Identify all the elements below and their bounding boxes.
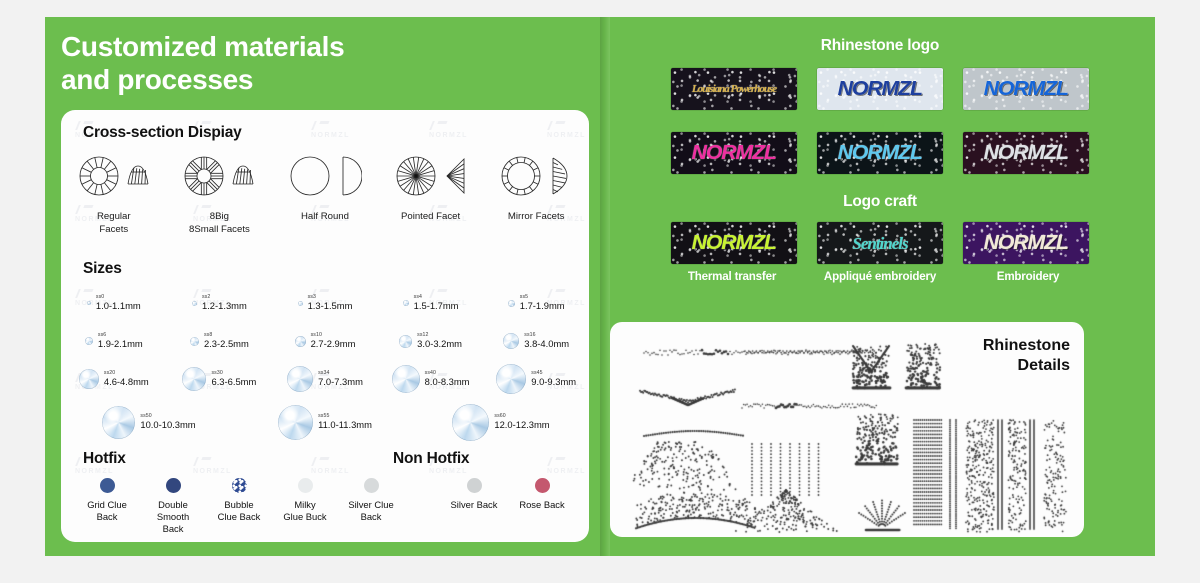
rhinestone-icon bbox=[496, 364, 526, 394]
backing-label-line-2: Back bbox=[87, 511, 127, 523]
materials-card: NORMZLNORMZLNORMZLNORMZLNORMZLNORMZLNORM… bbox=[61, 110, 589, 542]
cross-section-label-line-1: Mirror Facets bbox=[508, 211, 565, 224]
size-mm: 7.0-7.3mm bbox=[318, 377, 363, 387]
size-item: ss51.7-1.9mm bbox=[483, 295, 589, 310]
half-round-icon bbox=[288, 148, 362, 204]
rhinestone-icon bbox=[452, 404, 489, 441]
size-mm: 3.0-3.2mm bbox=[417, 339, 462, 349]
rhinestone-logo-tile: NORMZL bbox=[671, 222, 797, 264]
details-title-line-2: Details bbox=[983, 356, 1070, 376]
size-mm: 11.0-11.3mm bbox=[318, 420, 372, 430]
size-text: ss31.3-1.5mm bbox=[308, 295, 353, 310]
non-hotfix-group: Silver BackRose BackCold Back bbox=[445, 478, 589, 536]
rhinestone-icon bbox=[190, 337, 199, 346]
non-hotfix-title: Non Hotfix bbox=[393, 450, 469, 468]
rhinestone-logo-tile: NORMZL bbox=[963, 132, 1089, 174]
backing-label: Rose Back bbox=[519, 499, 564, 511]
backing-row: Grid ClueBackDouble SmoothBackBubbleClue… bbox=[61, 478, 589, 536]
cross-section-item: RegularFacets bbox=[61, 148, 167, 237]
backing-label: Grid ClueBack bbox=[87, 499, 127, 523]
size-item: ss408.0-8.3mm bbox=[378, 365, 484, 393]
right-page: Rhinestone logo Louisiana PowerhouseNORM… bbox=[605, 17, 1155, 556]
headline-line-1: Customized materials bbox=[61, 30, 344, 63]
size-mm: 1.7-1.9mm bbox=[520, 301, 565, 311]
size-item: ss01.0-1.1mm bbox=[61, 295, 167, 310]
backing-label-line-1: Milky bbox=[283, 499, 326, 511]
cross-section-label-line-1: Half Round bbox=[301, 211, 349, 224]
logo-wordmark: NORMZL bbox=[838, 78, 922, 101]
backing-label: Double SmoothBack bbox=[141, 499, 205, 536]
rhinestone-icon bbox=[85, 337, 93, 345]
size-text: ss306.3-6.5mm bbox=[211, 371, 256, 386]
backing-label: Silver Back bbox=[451, 499, 498, 511]
logo-wordmark: Louisiana Powerhouse bbox=[692, 84, 776, 95]
cross-section-label-line-1: Regular bbox=[97, 211, 131, 224]
mirror-facets-icon bbox=[499, 148, 573, 204]
cross-section-item: Mirror Facets bbox=[483, 148, 589, 237]
cross-section-label: Pointed Facet bbox=[401, 211, 460, 224]
rhinestone-icon bbox=[503, 333, 519, 349]
backing-item: Grid ClueBack bbox=[75, 478, 139, 536]
size-text: ss82.3-2.5mm bbox=[204, 333, 249, 348]
backing-item: BubbleClue Back bbox=[207, 478, 271, 536]
hotfix-group: Grid ClueBackDouble SmoothBackBubbleClue… bbox=[75, 478, 403, 536]
watermark-mark: NORMZL bbox=[75, 468, 114, 475]
size-text: ss5511.0-11.3mm bbox=[318, 414, 372, 429]
craft-label: Thermal transfer bbox=[662, 270, 802, 283]
left-page: Customized materials and processes NORMZ… bbox=[45, 17, 605, 556]
cross-section-row: RegularFacets8Big8Small FacetsHalf Round… bbox=[61, 148, 589, 237]
backing-label-line-1: Grid Clue bbox=[87, 499, 127, 511]
craft-label: Appliqué embroidery bbox=[810, 270, 950, 283]
size-item: ss306.3-6.5mm bbox=[167, 367, 273, 391]
details-title: Rhinestone Details bbox=[983, 336, 1070, 375]
size-text: ss51.7-1.9mm bbox=[520, 295, 565, 310]
backing-label-line-2: Clue Back bbox=[218, 511, 261, 523]
cross-section-label-line-2: Facets bbox=[97, 224, 131, 237]
size-mm: 8.0-8.3mm bbox=[425, 377, 470, 387]
backing-label-line-1: Double Smooth bbox=[141, 499, 205, 523]
size-item: ss204.6-4.8mm bbox=[61, 369, 167, 389]
size-mm: 2.7-2.9mm bbox=[311, 339, 356, 349]
rhinestone-logo-tile: NORMZL bbox=[817, 68, 943, 110]
backing-item: Cold Back bbox=[581, 478, 589, 536]
size-mm: 4.6-4.8mm bbox=[104, 377, 149, 387]
rhinestone-logo-tile: Sentinels bbox=[817, 222, 943, 264]
size-text: ss21.2-1.3mm bbox=[202, 295, 247, 310]
rhinestone-icon bbox=[295, 336, 306, 347]
brochure-spread: Customized materials and processes NORMZ… bbox=[45, 17, 1155, 556]
rhinestone-logo-tile: NORMZL bbox=[817, 132, 943, 174]
size-mm: 6.3-6.5mm bbox=[211, 377, 256, 387]
cross-section-label-line-1: 8Big bbox=[189, 211, 250, 224]
cross-section-item: Half Round bbox=[272, 148, 378, 237]
size-text: ss5010.0-10.3mm bbox=[140, 414, 195, 429]
logo-wordmark: NORMZL bbox=[984, 78, 1068, 101]
size-row: ss5010.0-10.3mmss5511.0-11.3mmss6012.0-1… bbox=[61, 398, 589, 446]
cross-section-label-line-2: 8Small Facets bbox=[189, 224, 250, 237]
backing-label-line-2: Back bbox=[348, 511, 393, 523]
logo-wordmark: Sentinels bbox=[852, 235, 907, 252]
size-text: ss102.7-2.9mm bbox=[311, 333, 356, 348]
logo-row-2: NORMZLNORMZLNORMZL bbox=[605, 132, 1155, 174]
rhinestone-logo-tile: NORMZL bbox=[671, 132, 797, 174]
backing-dot bbox=[298, 478, 313, 493]
size-text: ss123.0-3.2mm bbox=[417, 333, 462, 348]
backing-label-line-1: Bubble bbox=[218, 499, 261, 511]
rhinestone-icon bbox=[298, 301, 303, 306]
eight-big-eight-small-facets-icon bbox=[182, 148, 256, 204]
page-title: Customized materials and processes bbox=[61, 30, 344, 96]
sizes-rows: ss01.0-1.1mmss21.2-1.3mmss31.3-1.5mmss41… bbox=[61, 284, 589, 446]
rhinestone-logo-tile: NORMZL bbox=[963, 68, 1089, 110]
backing-dot bbox=[364, 478, 379, 493]
size-text: ss459.0-9.3mm bbox=[531, 371, 576, 386]
logo-wordmark: NORMZL bbox=[984, 232, 1068, 255]
rhinestone-icon bbox=[192, 301, 197, 306]
craft-labels: Thermal transferAppliqué embroideryEmbro… bbox=[605, 270, 1155, 283]
rhinestone-icon bbox=[403, 300, 409, 306]
logo-wordmark: NORMZL bbox=[692, 232, 776, 255]
regular-facets-icon bbox=[77, 148, 151, 204]
backing-label-line-2: Glue Buck bbox=[283, 511, 326, 523]
size-text: ss163.8-4.0mm bbox=[524, 333, 569, 348]
rhinestone-icon bbox=[392, 365, 420, 393]
cross-section-label-line-1: Pointed Facet bbox=[401, 211, 460, 224]
cross-section-label: RegularFacets bbox=[97, 211, 131, 237]
backing-label-line-1: Silver Back bbox=[451, 499, 498, 511]
backing-label-line-1: Rose Back bbox=[519, 499, 564, 511]
backing-item: Rose Back bbox=[513, 478, 571, 536]
cross-section-label: Half Round bbox=[301, 211, 349, 224]
details-title-line-1: Rhinestone bbox=[983, 336, 1070, 356]
size-row: ss61.9-2.1mmss82.3-2.5mmss102.7-2.9mmss1… bbox=[61, 322, 589, 360]
watermark-mark: NORMZL bbox=[547, 132, 586, 139]
size-item: ss459.0-9.3mm bbox=[483, 364, 589, 394]
size-item: ss5511.0-11.3mm bbox=[237, 405, 413, 440]
backing-dot bbox=[467, 478, 482, 493]
cross-section-label: 8Big8Small Facets bbox=[189, 211, 250, 237]
size-item: ss5010.0-10.3mm bbox=[61, 406, 237, 439]
rhinestone-icon bbox=[278, 405, 313, 440]
size-mm: 1.2-1.3mm bbox=[202, 301, 247, 311]
logo-row-1: Louisiana PowerhouseNORMZLNORMZL bbox=[605, 68, 1155, 110]
size-text: ss41.5-1.7mm bbox=[414, 295, 459, 310]
size-item: ss163.8-4.0mm bbox=[483, 333, 589, 349]
backing-item: Silver ClueBack bbox=[339, 478, 403, 536]
size-mm: 1.0-1.1mm bbox=[96, 301, 141, 311]
logo-wordmark: NORMZL bbox=[838, 142, 922, 165]
cross-section-title: Cross-section Dispiay bbox=[83, 124, 242, 142]
backing-label: Silver ClueBack bbox=[348, 499, 393, 523]
pointed-facet-icon bbox=[394, 148, 468, 204]
sizes-section: Sizes ss01.0-1.1mmss21.2-1.3mmss31.3-1.5… bbox=[61, 260, 589, 446]
cross-section-label: Mirror Facets bbox=[508, 211, 565, 224]
size-item: ss41.5-1.7mm bbox=[378, 295, 484, 310]
watermark-mark: NORMZL bbox=[429, 132, 468, 139]
size-mm: 3.8-4.0mm bbox=[524, 339, 569, 349]
cross-section-item: 8Big8Small Facets bbox=[167, 148, 273, 237]
size-mm: 10.0-10.3mm bbox=[140, 420, 195, 430]
backing-item: Silver Back bbox=[445, 478, 503, 536]
logo-wordmark: NORMZL bbox=[984, 142, 1068, 165]
rhinestone-logo-title: Rhinestone logo bbox=[605, 37, 1155, 55]
size-item: ss347.0-7.3mm bbox=[272, 366, 378, 392]
watermark-mark: NORMZL bbox=[311, 468, 350, 475]
watermark-mark: NORMZL bbox=[429, 468, 468, 475]
rhinestone-icon bbox=[182, 367, 206, 391]
hotfix-title: Hotfix bbox=[83, 450, 126, 468]
size-mm: 2.3-2.5mm bbox=[204, 339, 249, 349]
craft-row: NORMZLSentinelsNORMZL bbox=[605, 222, 1155, 264]
backing-label-line-2: Back bbox=[141, 523, 205, 535]
size-item: ss102.7-2.9mm bbox=[272, 333, 378, 348]
size-text: ss01.0-1.1mm bbox=[96, 295, 141, 310]
backing-dot bbox=[535, 478, 550, 493]
size-item: ss31.3-1.5mm bbox=[272, 295, 378, 310]
rhinestone-icon bbox=[102, 406, 135, 439]
rhinestone-logo-tile: Louisiana Powerhouse bbox=[671, 68, 797, 110]
backing-dot bbox=[166, 478, 181, 493]
backing-item: Double SmoothBack bbox=[141, 478, 205, 536]
size-item: ss6012.0-12.3mm bbox=[413, 404, 589, 441]
watermark-mark: NORMZL bbox=[193, 468, 232, 475]
size-mm: 1.9-2.1mm bbox=[98, 339, 143, 349]
size-item: ss123.0-3.2mm bbox=[378, 333, 484, 348]
size-text: ss408.0-8.3mm bbox=[425, 371, 470, 386]
size-item: ss21.2-1.3mm bbox=[167, 295, 273, 310]
backing-item: MilkyGlue Buck bbox=[273, 478, 337, 536]
backing-dot bbox=[232, 478, 247, 493]
size-mm: 1.5-1.7mm bbox=[414, 301, 459, 311]
size-text: ss6012.0-12.3mm bbox=[494, 414, 549, 429]
size-mm: 9.0-9.3mm bbox=[531, 377, 576, 387]
poster-stage: Customized materials and processes NORMZ… bbox=[0, 0, 1200, 583]
rhinestone-icon bbox=[79, 369, 99, 389]
backing-label: MilkyGlue Buck bbox=[283, 499, 326, 523]
backing-label-line-1: Silver Clue bbox=[348, 499, 393, 511]
logo-craft-title: Logo craft bbox=[605, 193, 1155, 211]
size-mm: 1.3-1.5mm bbox=[308, 301, 353, 311]
rhinestone-icon bbox=[287, 366, 313, 392]
craft-label: Embroidery bbox=[958, 270, 1098, 283]
headline-line-2: and processes bbox=[61, 63, 344, 96]
size-text: ss204.6-4.8mm bbox=[104, 371, 149, 386]
rhinestone-details-card: Rhinestone Details bbox=[610, 322, 1084, 537]
size-text: ss347.0-7.3mm bbox=[318, 371, 363, 386]
size-row: ss01.0-1.1mmss21.2-1.3mmss31.3-1.5mmss41… bbox=[61, 284, 589, 322]
rhinestone-icon bbox=[399, 335, 412, 348]
watermark-mark: NORMZL bbox=[311, 132, 350, 139]
size-text: ss61.9-2.1mm bbox=[98, 333, 143, 348]
size-item: ss61.9-2.1mm bbox=[61, 333, 167, 348]
backing-dot bbox=[100, 478, 115, 493]
rhinestone-logo-tile: NORMZL bbox=[963, 222, 1089, 264]
rhinestone-icon bbox=[508, 300, 515, 307]
backing-label: BubbleClue Back bbox=[218, 499, 261, 523]
sizes-title: Sizes bbox=[83, 260, 589, 278]
size-row: ss204.6-4.8mmss306.3-6.5mmss347.0-7.3mms… bbox=[61, 360, 589, 398]
size-mm: 12.0-12.3mm bbox=[494, 420, 549, 430]
rhinestone-icon bbox=[87, 301, 91, 305]
size-item: ss82.3-2.5mm bbox=[167, 333, 273, 348]
logo-wordmark: NORMZL bbox=[692, 142, 776, 165]
watermark-mark: NORMZL bbox=[547, 468, 586, 475]
cross-section-item: Pointed Facet bbox=[378, 148, 484, 237]
